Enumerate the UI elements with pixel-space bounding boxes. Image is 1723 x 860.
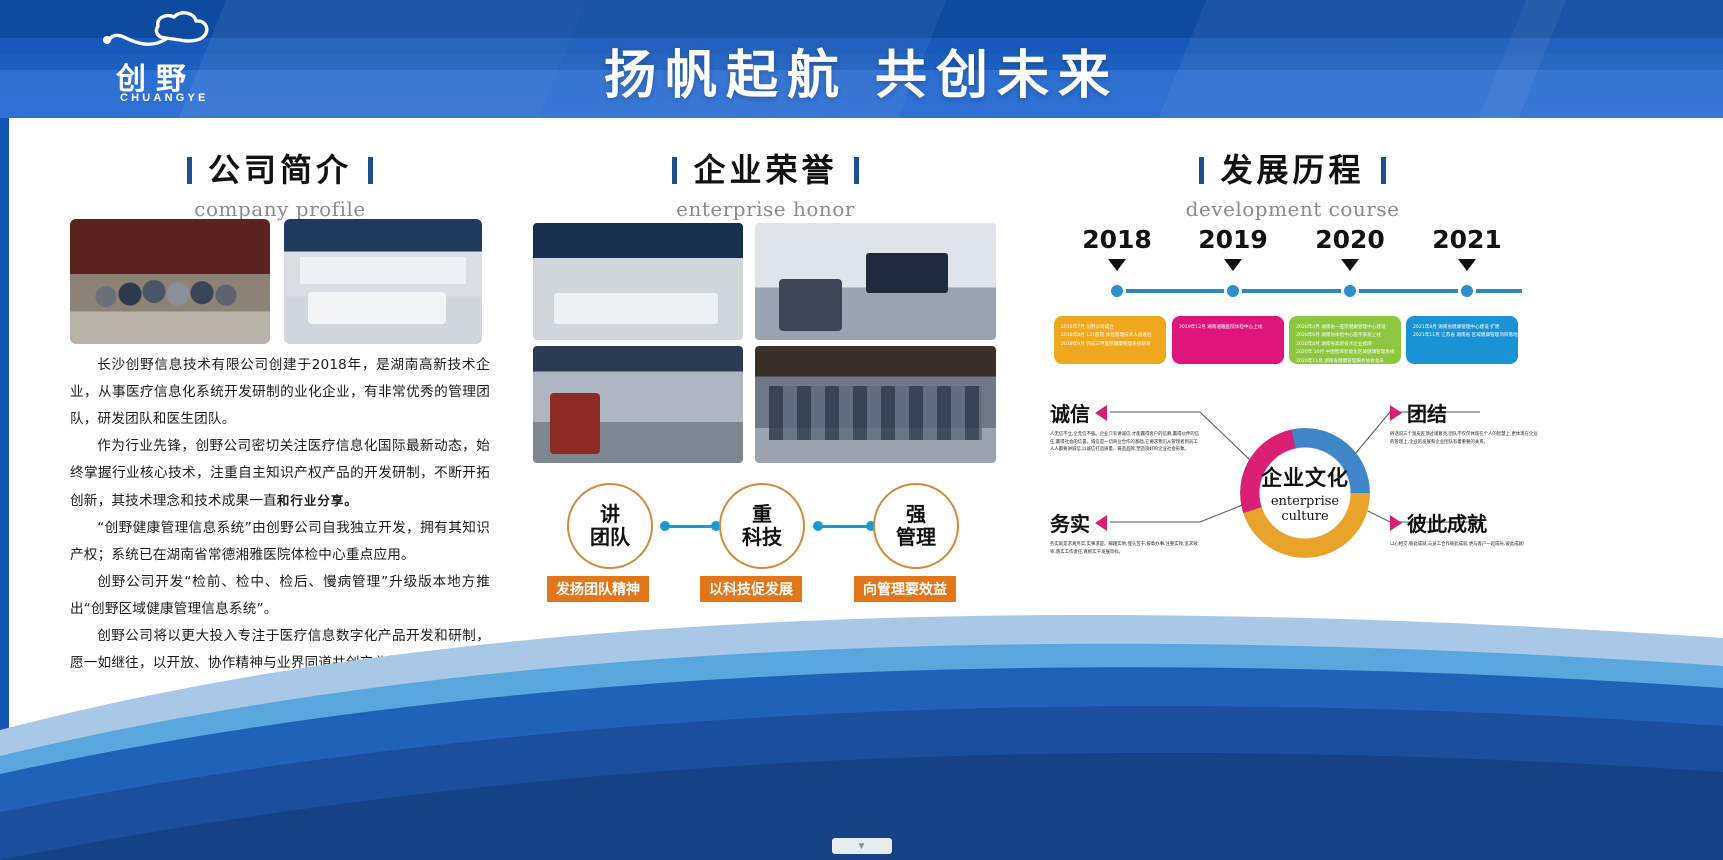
flow-node-label: 讲团队 [590,503,630,549]
timeline-card-2019: 2019年12月 湖南湘雅医院体检中心上线 [1172,316,1284,364]
timeline-card-2021: 2021年8月 湖南省健康管理中心建设 扩建2021年11月 江苏省 湖南省 区… [1406,316,1518,364]
title-bar-right-icon [1381,157,1386,184]
section-title-profile: 公司简介 company profile [70,145,490,221]
flow-node-management[interactable]: 强管理 [873,483,959,569]
honor-photo-workstations [533,346,743,463]
honor-photo-office-sofa [533,223,743,340]
team-group-photo [70,219,270,344]
timeline-event-line: 2018年7月 创野公司成立 [1061,324,1159,332]
flow-dot [813,521,823,531]
profile-paragraph: 作为行业先锋，创野公司密切关注医疗信息化国际最新动态，始终掌握行业核心技术，注重… [70,433,490,515]
profile-paragraph: 长沙创野信息技术有限公司创建于2018年，是湖南高新技术企业，从事医疗信息化系统… [70,352,490,433]
timeline-event-line: 2020年6月 湖南省体检中心医学系统上线 [1296,332,1394,340]
honor-photo-group-award [755,346,996,463]
timeline-event-line: 2021年11月 江苏省 湖南省 区域健康管理项目落地应用 [1413,332,1511,340]
flow-node-label: 强管理 [896,503,936,549]
section-title-cn-development: 发展历程 [1050,145,1535,191]
poster-main-title: 扬帆起航 共创未来 [0,33,1723,108]
culture-center-en-2: culture [1281,509,1328,524]
timeline-event-line: 2020年 10月 中国智库智能化区域健康管理系统 [1296,349,1394,357]
timeline-event-line: 2020年4月 湖南省一医院健康管理中心建设 [1296,324,1394,332]
poster-header: 创野 CHUANGYE 扬帆起航 共创未来 [0,0,1723,118]
culture-item-title: 彼此成就 [1407,508,1487,537]
flow-connector [817,525,871,528]
honor-photo-grid [533,223,996,463]
timeline-year-2021: 2021 [1422,225,1512,254]
timeline-event-line: 2020年8月 湖南省高新技术企业授牌 [1296,341,1394,349]
caret-down-icon [1224,259,1242,271]
culture-item-pragmatism: 务实 务实就是求真务实,实事求是。脚踏实地,埋头苦干,按章办事,注重实效,追求效… [1050,508,1200,556]
title-bar-left-icon [1199,157,1204,184]
culture-item-title: 诚信 [1050,398,1090,427]
culture-item-body: 以心相交,彼此成就,与员工合作彼此成就,更与客户一起成长,彼此成就! [1390,541,1540,549]
timeline-event-line: 2019年12月 湖南湘雅医院体检中心上线 [1179,324,1277,332]
culture-item-mutual-success: 彼此成就 以心相交,彼此成就,与员工合作彼此成就,更与客户一起成长,彼此成就! [1390,508,1540,549]
culture-item-head: 团结 [1390,398,1540,427]
culture-item-head: 务实 [1050,508,1200,537]
footer-wave-graphic [0,560,1723,860]
timeline-event-line: 2018年9月 完成三甲医院健康管理系统研发 [1061,341,1159,349]
timeline-dot [1224,282,1242,300]
culture-center-cn: 企业文化 [1261,462,1349,492]
section-title-en-development: development course [1050,197,1535,221]
timeline-card-pointer [1102,316,1118,317]
timeline-event-line: 2020年11月 湖南省健康管理服务协会会员 [1296,358,1394,364]
caret-down-icon [1458,259,1476,271]
timeline-card-pointer [1454,316,1470,317]
flow-node-team[interactable]: 讲团队 [567,483,653,569]
honor-photo-presentation [755,223,996,340]
arrow-left-icon [1095,405,1107,421]
section-title-en-honor: enterprise honor [533,197,998,221]
title-bar-left-icon [187,157,192,184]
arrow-right-icon [1390,515,1402,531]
handwritten-note: 和行业分享。 [277,493,358,508]
timeline-year-2019: 2019 [1188,225,1278,254]
poster-board: 创野 CHUANGYE 扬帆起航 共创未来 公司简介 company profi… [0,0,1723,860]
timeline-card-2020: 2020年4月 湖南省一医院健康管理中心建设2020年6月 湖南省体检中心医学系… [1289,316,1401,364]
title-bar-left-icon [672,157,677,184]
arrow-right-icon [1390,405,1402,421]
section-title-honor: 企业荣誉 enterprise honor [533,145,998,221]
title-bar-right-icon [854,157,859,184]
timeline-card-pointer [1220,316,1236,317]
timeline-dot [1108,282,1126,300]
culture-item-title: 团结 [1407,398,1447,427]
culture-center-en-1: enterprise [1271,494,1339,509]
arrow-left-icon [1095,515,1107,531]
flow-dot [660,521,670,531]
flow-connector [664,525,716,528]
scroll-down-hint[interactable]: ▼ [832,838,892,854]
culture-item-body: 俗话说三个臭皮匠顶过诸葛亮,团队不仅仅体现在个人的智慧上,更体现在企业的管理上,… [1390,431,1540,446]
timeline-year-2020: 2020 [1305,225,1395,254]
culture-item-body: 人无信不立,企无信不强。企业只有讲诚信,才能赢得客户的信赖,赢得伙伴的信任,赢得… [1050,431,1200,454]
culture-item-head: 诚信 [1050,398,1200,427]
office-reception-photo [284,219,482,344]
timeline-event-line: 2021年8月 湖南省健康管理中心建设 扩建 [1413,324,1511,332]
section-title-cn-profile: 公司简介 [70,145,490,191]
culture-item-head: 彼此成就 [1390,508,1540,537]
timeline-dot [1458,282,1476,300]
culture-item-integrity: 诚信 人无信不立,企无信不强。企业只有讲诚信,才能赢得客户的信赖,赢得伙伴的信任… [1050,398,1200,454]
timeline-card-2018: 2018年7月 创野公司成立2018年8月 131医院 体检管理技术人员进驻20… [1054,316,1166,364]
title-bar-right-icon [368,157,373,184]
culture-item-title: 务实 [1050,508,1090,537]
timeline-dot [1341,282,1359,300]
section-title-cn-honor: 企业荣誉 [533,145,998,191]
section-title-en-profile: company profile [70,197,490,221]
flow-node-label: 重科技 [742,503,782,549]
culture-center-label: 企业文化 enterprise culture [1240,428,1370,558]
development-timeline: 2018 2019 2020 2021 2018年7月 创野公司成立2018年8… [1050,225,1540,375]
profile-photo-row [70,219,482,344]
caret-down-icon [1108,259,1126,271]
timeline-card-pointer [1337,316,1353,317]
flow-node-technology[interactable]: 重科技 [719,483,805,569]
timeline-year-2018: 2018 [1072,225,1162,254]
caret-down-icon [1341,259,1359,271]
culture-item-body: 务实就是求真务实,实事求是。脚踏实地,埋头苦干,按章办事,注重实效,追求效率,落… [1050,541,1200,556]
timeline-event-line: 2018年8月 131医院 体检管理技术人员进驻 [1061,332,1159,340]
culture-item-unity: 团结 俗话说三个臭皮匠顶过诸葛亮,团队不仅仅体现在个人的智慧上,更体现在企业的管… [1390,398,1540,446]
section-title-development: 发展历程 development course [1050,145,1535,221]
